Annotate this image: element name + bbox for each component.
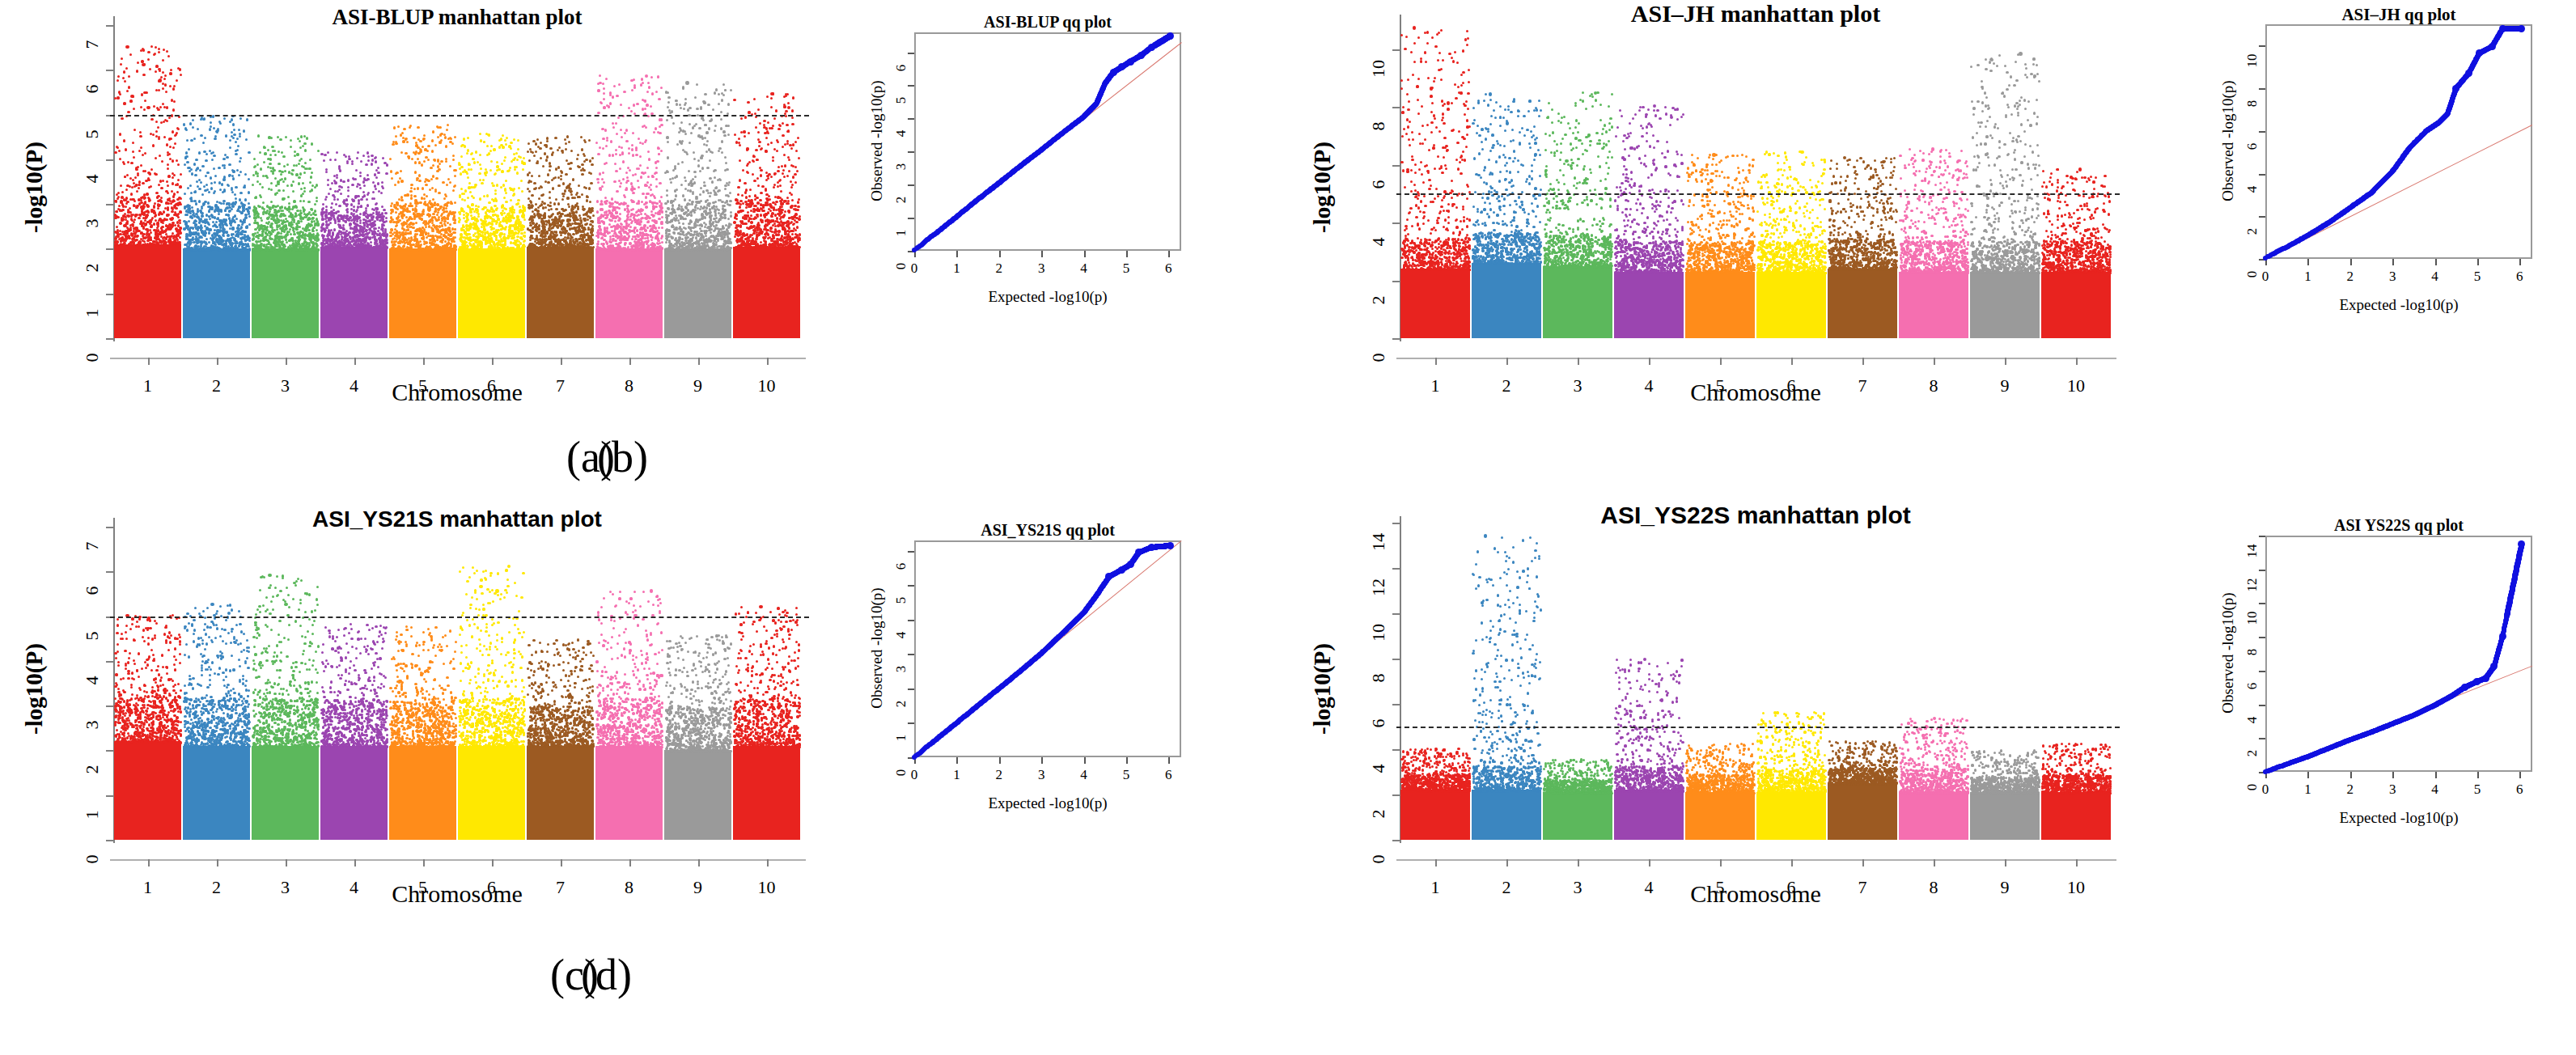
- manhattan-point: [2093, 255, 2095, 257]
- manhattan-point: [617, 681, 620, 684]
- manhattan-point: [286, 220, 288, 222]
- manhattan-point: [639, 210, 642, 212]
- manhattan-point: [1945, 149, 1947, 151]
- manhattan-point: [775, 109, 777, 112]
- manhattan-point: [1617, 712, 1620, 714]
- manhattan-point: [1508, 181, 1510, 184]
- manhattan-point: [298, 163, 300, 165]
- manhattan-point: [2105, 780, 2108, 782]
- manhattan-point: [1739, 765, 1741, 767]
- manhattan-point: [695, 236, 697, 239]
- manhattan-point: [1858, 215, 1860, 218]
- manhattan-point: [1926, 736, 1928, 739]
- manhattan-point: [1488, 159, 1490, 161]
- manhattan-point: [123, 242, 125, 244]
- manhattan-point: [287, 733, 290, 735]
- manhattan-point: [1650, 173, 1653, 176]
- manhattan-point: [677, 657, 680, 659]
- manhattan-point: [757, 108, 760, 111]
- manhattan-point: [1442, 112, 1444, 115]
- manhattan-point: [1878, 235, 1880, 237]
- manhattan-point: [705, 150, 708, 153]
- qq-y-tick-label: 3: [893, 655, 909, 683]
- manhattan-point: [678, 642, 680, 644]
- manhattan-point: [1809, 265, 1811, 268]
- manhattan-point: [157, 108, 159, 111]
- manhattan-point: [1912, 163, 1914, 165]
- manhattan-point: [215, 727, 218, 729]
- manhattan-point: [117, 233, 119, 235]
- manhattan-point: [653, 131, 655, 133]
- manhattan-point: [646, 104, 648, 106]
- manhattan-point: [1519, 684, 1522, 687]
- manhattan-point: [1452, 252, 1455, 254]
- manhattan-point: [372, 181, 375, 184]
- manhattan-point: [2104, 745, 2107, 748]
- manhattan-point: [1942, 201, 1944, 203]
- manhattan-point: [2095, 236, 2097, 239]
- manhattan-point: [1438, 761, 1441, 763]
- manhattan-point: [542, 165, 544, 167]
- manhattan-point: [450, 660, 452, 663]
- manhattan-point: [403, 128, 405, 130]
- manhattan-point: [1890, 752, 1892, 755]
- manhattan-point: [159, 694, 161, 697]
- manhattan-point: [714, 678, 717, 680]
- manhattan-point: [1774, 220, 1777, 222]
- manhattan-point: [780, 190, 782, 193]
- manhattan-point: [1493, 211, 1495, 214]
- manhattan-point: [1519, 612, 1521, 614]
- manhattan-point: [1756, 248, 1759, 251]
- manhattan-point: [1910, 762, 1913, 765]
- manhattan-point: [297, 578, 299, 580]
- manhattan-point: [597, 181, 600, 184]
- manhattan-point: [676, 143, 679, 146]
- manhattan-point: [696, 635, 698, 638]
- manhattan-point: [1416, 85, 1418, 87]
- manhattan-point: [498, 718, 501, 720]
- manhattan-point: [1997, 777, 1999, 779]
- manhattan-point: [1618, 705, 1621, 707]
- manhattan-point: [198, 179, 201, 181]
- manhattan-point: [1478, 576, 1481, 578]
- manhattan-point: [796, 209, 799, 211]
- manhattan-point: [755, 673, 757, 676]
- manhattan-point: [2098, 242, 2100, 244]
- manhattan-point: [1908, 733, 1910, 735]
- manhattan-point: [1538, 115, 1540, 117]
- manhattan-point: [495, 208, 498, 210]
- manhattan-point: [544, 240, 546, 243]
- manhattan-point: [1496, 676, 1498, 678]
- manhattan-point: [1474, 719, 1477, 722]
- manhattan-x-tick: [217, 358, 218, 365]
- manhattan-point: [142, 636, 144, 638]
- manhattan-point: [2019, 225, 2021, 227]
- manhattan-point: [1523, 786, 1525, 788]
- manhattan-point: [645, 710, 647, 713]
- manhattan-point: [330, 720, 333, 722]
- manhattan-point: [177, 179, 180, 181]
- manhattan-point: [1811, 186, 1813, 189]
- manhattan-point: [1930, 741, 1933, 744]
- manhattan-point: [125, 197, 128, 199]
- manhattan-point: [717, 714, 719, 716]
- manhattan-point: [349, 667, 351, 669]
- manhattan-point: [728, 222, 731, 225]
- manhattan-point: [190, 718, 193, 721]
- manhattan-point: [1741, 237, 1743, 239]
- manhattan-point: [1498, 680, 1501, 683]
- manhattan-point: [1892, 233, 1894, 235]
- manhattan-point: [1930, 200, 1933, 202]
- manhattan-point: [475, 208, 477, 210]
- manhattan-point: [700, 748, 702, 751]
- manhattan-point: [1913, 722, 1916, 724]
- manhattan-point: [281, 710, 283, 712]
- manhattan-point: [1971, 271, 1973, 273]
- manhattan-point: [1426, 124, 1429, 126]
- manhattan-point: [1902, 256, 1904, 258]
- manhattan-point: [1673, 163, 1676, 166]
- manhattan-point: [193, 629, 196, 631]
- manhattan-point: [1892, 244, 1894, 247]
- manhattan-point: [1496, 748, 1498, 750]
- manhattan-x-tick-label: 9: [674, 375, 722, 396]
- manhattan-x-tick-label: 4: [330, 375, 379, 396]
- manhattan-point: [755, 238, 757, 240]
- manhattan-point: [1445, 167, 1447, 170]
- manhattan-point: [1786, 185, 1789, 188]
- manhattan-point: [400, 180, 403, 182]
- manhattan-point: [129, 712, 132, 714]
- manhattan-point: [1536, 542, 1538, 544]
- manhattan-point: [248, 178, 250, 180]
- manhattan-point: [479, 197, 481, 200]
- manhattan-point: [208, 241, 210, 244]
- manhattan-point: [1971, 751, 1973, 753]
- manhattan-point: [2098, 269, 2100, 272]
- manhattan-point: [582, 646, 584, 649]
- manhattan-point: [2108, 756, 2111, 759]
- manhattan-point: [1960, 191, 1963, 193]
- manhattan-point: [276, 575, 278, 578]
- manhattan-point: [1601, 786, 1604, 788]
- manhattan-point: [1599, 119, 1602, 121]
- manhattan-point: [167, 55, 170, 57]
- manhattan-point: [191, 238, 193, 240]
- manhattan-point: [527, 693, 529, 696]
- manhattan-point: [1797, 181, 1799, 184]
- manhattan-point: [785, 621, 787, 623]
- manhattan-point: [279, 138, 282, 141]
- manhattan-point: [599, 82, 601, 84]
- manhattan-point: [629, 651, 631, 654]
- manhattan-point: [1587, 135, 1590, 138]
- manhattan-point: [1774, 186, 1777, 189]
- manhattan-point: [1508, 669, 1510, 672]
- manhattan-point: [422, 689, 424, 691]
- manhattan-point: [488, 742, 490, 744]
- manhattan-point: [665, 91, 667, 93]
- manhattan-point: [235, 244, 237, 247]
- manhattan-point: [2057, 783, 2059, 786]
- manhattan-point: [685, 689, 688, 691]
- manhattan-point: [422, 235, 425, 238]
- manhattan-x-tick-label: 4: [1625, 375, 1673, 396]
- manhattan-point: [777, 213, 779, 215]
- manhattan-point: [770, 176, 773, 178]
- manhattan-point: [213, 127, 215, 129]
- manhattan-point: [1966, 176, 1968, 179]
- manhattan-point: [1477, 102, 1480, 104]
- manhattan-point: [659, 742, 661, 744]
- manhattan-point: [765, 229, 768, 231]
- manhattan-point: [1735, 775, 1738, 777]
- manhattan-point: [299, 599, 302, 601]
- manhattan-point: [618, 743, 621, 745]
- qq-y-tick-label: 1: [893, 724, 909, 752]
- manhattan-point: [374, 173, 376, 176]
- manhattan-point: [1484, 201, 1486, 204]
- manhattan-chromosome-band: [1898, 516, 1969, 840]
- manhattan-point: [1945, 764, 1947, 766]
- manhattan-point: [522, 722, 524, 724]
- manhattan-point: [568, 205, 570, 208]
- manhattan-point: [266, 176, 269, 179]
- manhattan-point: [772, 125, 774, 127]
- manhattan-point: [471, 636, 473, 638]
- manhattan-point: [1649, 769, 1651, 771]
- manhattan-point: [1451, 129, 1453, 132]
- manhattan-point: [230, 689, 232, 692]
- manhattan-point: [772, 652, 774, 655]
- manhattan-point: [1773, 762, 1776, 765]
- manhattan-point: [1954, 235, 1956, 237]
- manhattan-point: [1746, 775, 1748, 777]
- manhattan-point: [628, 602, 630, 604]
- manhattan-point: [1788, 732, 1790, 735]
- manhattan-point: [1905, 262, 1908, 265]
- manhattan-point: [744, 116, 747, 118]
- manhattan-point: [624, 655, 626, 658]
- manhattan-point: [444, 731, 447, 734]
- manhattan-point: [2065, 175, 2068, 177]
- manhattan-point: [1417, 197, 1419, 200]
- manhattan-point: [237, 731, 239, 734]
- manhattan-point: [294, 215, 296, 218]
- manhattan-point: [707, 682, 710, 684]
- manhattan-point: [274, 587, 277, 589]
- manhattan-x-tick: [148, 859, 150, 866]
- manhattan-point: [440, 649, 443, 651]
- manhattan-point: [703, 181, 705, 184]
- manhattan-point: [1927, 182, 1930, 184]
- manhattan-point: [509, 720, 511, 722]
- manhattan-point: [1772, 201, 1774, 203]
- manhattan-point: [581, 699, 583, 701]
- manhattan-point: [337, 241, 339, 244]
- manhattan-plot: ASI_YS21S manhattan plot-log10(P)Chromos…: [0, 502, 817, 955]
- manhattan-point: [1409, 777, 1412, 779]
- manhattan-point: [1745, 243, 1748, 245]
- manhattan-point: [630, 110, 633, 112]
- manhattan-point: [1821, 265, 1824, 268]
- qq-x-tick: [956, 251, 958, 257]
- manhattan-point: [1821, 761, 1824, 764]
- manhattan-point: [596, 210, 599, 213]
- manhattan-point: [303, 200, 305, 202]
- manhattan-point: [1581, 261, 1583, 263]
- manhattan-point: [776, 218, 778, 220]
- manhattan-significant-point: [1712, 153, 1715, 156]
- manhattan-point: [427, 628, 430, 630]
- manhattan-point: [245, 138, 248, 141]
- manhattan-point: [1803, 205, 1806, 208]
- manhattan-point: [467, 149, 469, 151]
- manhattan-point: [1564, 133, 1566, 136]
- manhattan-point: [1453, 757, 1455, 760]
- manhattan-point: [468, 576, 471, 578]
- manhattan-point: [1527, 675, 1530, 677]
- manhattan-point: [1801, 791, 1803, 794]
- manhattan-point: [638, 705, 640, 708]
- manhattan-point: [724, 89, 727, 91]
- manhattan-point: [114, 237, 117, 239]
- manhattan-point: [1960, 755, 1963, 757]
- manhattan-point: [2108, 261, 2110, 264]
- manhattan-point: [235, 624, 238, 626]
- manhattan-point: [442, 717, 444, 719]
- manhattan-point: [1616, 205, 1619, 207]
- manhattan-point: [1458, 266, 1460, 269]
- manhattan-point: [497, 735, 499, 738]
- manhattan-point: [380, 633, 383, 636]
- manhattan-point: [654, 653, 656, 655]
- manhattan-point: [2034, 792, 2036, 794]
- manhattan-point: [335, 203, 337, 205]
- manhattan-point: [572, 216, 574, 218]
- manhattan-point: [1952, 220, 1955, 222]
- manhattan-point: [1459, 765, 1461, 768]
- manhattan-dense-block: [527, 247, 594, 338]
- manhattan-point: [1494, 686, 1497, 689]
- manhattan-point: [618, 702, 621, 705]
- manhattan-point: [2005, 777, 2007, 779]
- manhattan-point: [1549, 134, 1551, 137]
- manhattan-point: [1633, 238, 1635, 240]
- manhattan-point: [2027, 245, 2030, 248]
- manhattan-point: [747, 746, 749, 748]
- manhattan-point: [596, 178, 599, 180]
- manhattan-point: [1595, 99, 1597, 101]
- manhattan-point: [604, 248, 607, 250]
- manhattan-point: [1406, 218, 1409, 221]
- manhattan-point: [1578, 181, 1581, 184]
- manhattan-point: [307, 201, 310, 203]
- manhattan-point: [426, 738, 428, 740]
- manhattan-point: [1976, 132, 1978, 134]
- manhattan-point: [256, 175, 259, 177]
- manhattan-point: [400, 233, 403, 235]
- manhattan-point: [1870, 762, 1872, 765]
- manhattan-point: [1947, 267, 1950, 269]
- qq-y-tick-label: 2: [893, 186, 909, 214]
- manhattan-point: [1804, 757, 1807, 760]
- manhattan-point: [498, 702, 500, 705]
- manhattan-point: [647, 735, 650, 738]
- manhattan-dense-block: [1543, 792, 1612, 840]
- manhattan-point: [645, 629, 647, 632]
- manhattan-chromosome-band: [182, 518, 251, 840]
- manhattan-point: [575, 239, 578, 242]
- manhattan-point: [770, 730, 773, 732]
- manhattan-point: [1500, 714, 1502, 717]
- manhattan-point: [781, 205, 783, 208]
- manhattan-point: [464, 232, 466, 235]
- manhattan-point: [469, 604, 472, 606]
- manhattan-point: [299, 697, 301, 699]
- manhattan-point: [1638, 737, 1641, 739]
- manhattan-point: [744, 657, 747, 659]
- manhattan-point: [603, 87, 605, 90]
- manhattan-point: [375, 695, 378, 697]
- manhattan-point: [414, 161, 417, 163]
- manhattan-point: [516, 731, 519, 734]
- manhattan-point: [733, 99, 735, 101]
- manhattan-point: [2056, 791, 2058, 794]
- manhattan-point: [337, 235, 339, 237]
- manhattan-y-tick-label: 4: [1368, 752, 1389, 785]
- manhattan-point: [653, 731, 655, 733]
- manhattan-point: [331, 202, 333, 205]
- manhattan-point: [1961, 264, 1964, 266]
- manhattan-point: [1448, 763, 1451, 765]
- manhattan-point: [367, 192, 370, 194]
- manhattan-point: [358, 674, 360, 676]
- manhattan-point: [586, 199, 588, 201]
- manhattan-point: [167, 214, 170, 216]
- manhattan-point: [1513, 150, 1515, 152]
- manhattan-point: [1939, 251, 1942, 253]
- manhattan-point: [1478, 260, 1481, 262]
- manhattan-point: [619, 167, 621, 170]
- manhattan-point: [1866, 740, 1869, 743]
- manhattan-point: [1926, 247, 1928, 249]
- manhattan-point: [316, 229, 318, 231]
- manhattan-point: [333, 228, 336, 231]
- manhattan-point: [399, 705, 401, 707]
- manhattan-point: [1810, 246, 1812, 248]
- manhattan-point: [558, 721, 561, 723]
- manhattan-point: [689, 693, 692, 695]
- manhattan-point: [443, 197, 446, 200]
- manhattan-point: [343, 718, 345, 721]
- manhattan-point: [344, 702, 346, 705]
- manhattan-point: [1413, 184, 1416, 186]
- manhattan-point: [485, 698, 488, 701]
- manhattan-point: [1491, 172, 1493, 175]
- manhattan-point: [1511, 722, 1514, 725]
- manhattan-point: [771, 667, 773, 670]
- manhattan-point: [2036, 207, 2039, 210]
- manhattan-point: [127, 235, 129, 237]
- manhattan-point: [2057, 197, 2060, 199]
- manhattan-point: [701, 745, 704, 748]
- gwas-figure: ASI-BLUP manhattan plot-log10(P)Chromoso…: [0, 0, 2576, 1055]
- manhattan-point: [324, 743, 327, 745]
